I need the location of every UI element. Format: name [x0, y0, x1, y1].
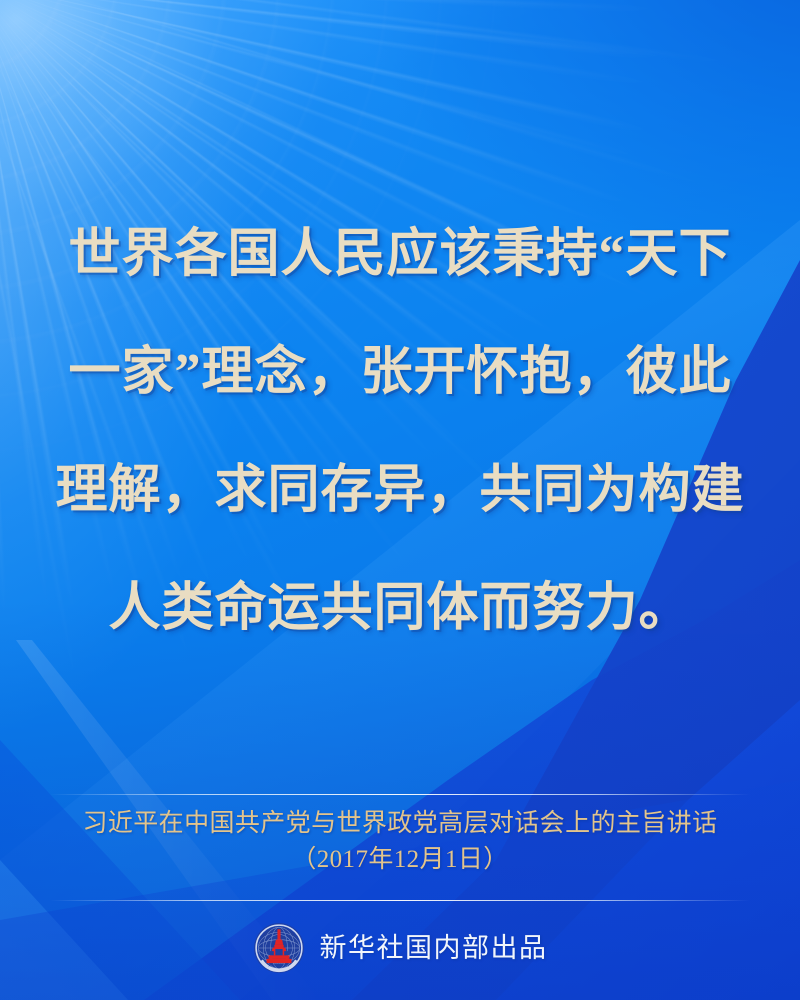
content-root: 世界各国人民应该秉持“天下 一家”理念，张开怀抱，彼此 理解，求同存异，共同为构… [0, 0, 800, 1000]
svg-text:XINHUA: XINHUA [268, 963, 290, 968]
caption-source-line: 习近平在中国共产党与世界政党高层对话会上的主旨讲话 [0, 806, 800, 842]
quote-line-3: 理解，求同存异，共同为构建 [0, 432, 800, 550]
divider-above-caption [50, 794, 750, 795]
footer-credit: XINHUA 新华社国内部出品 [0, 922, 800, 974]
divider-below-caption [50, 900, 750, 901]
quote-line-4: 人类命运共同体而努力。 [0, 550, 800, 668]
quote-line-1: 世界各国人民应该秉持“天下 [0, 196, 800, 314]
poster-canvas: 世界各国人民应该秉持“天下 一家”理念，张开怀抱，彼此 理解，求同存异，共同为构… [0, 0, 800, 1000]
caption-block: 习近平在中国共产党与世界政党高层对话会上的主旨讲话 （2017年12月1日） [0, 806, 800, 878]
quote-block: 世界各国人民应该秉持“天下 一家”理念，张开怀抱，彼此 理解，求同存异，共同为构… [0, 196, 800, 668]
quote-line-2: 一家”理念，张开怀抱，彼此 [0, 314, 800, 432]
xinhua-logo-icon: XINHUA [253, 922, 305, 974]
footer-text: 新华社国内部出品 [320, 931, 548, 965]
caption-date-line: （2017年12月1日） [0, 842, 800, 878]
